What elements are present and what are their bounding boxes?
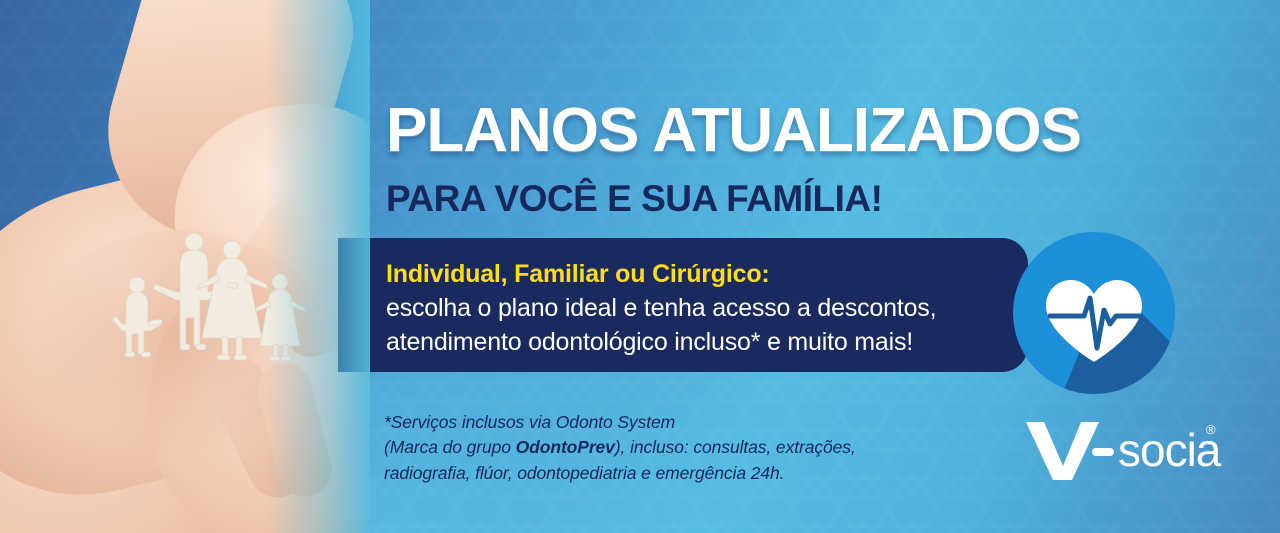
footnote: *Serviços inclusos via Odonto System (Ma… <box>384 410 856 486</box>
footnote-line-2-pre: (Marca do grupo <box>384 437 516 457</box>
page-subtitle: PARA VOCÊ E SUA FAMÍLIA! <box>386 180 882 217</box>
hands-holding-paper-family-photo <box>0 0 370 533</box>
callout-line-1: escolha o plano ideal e tenha acesso a d… <box>386 294 936 323</box>
heart-pulse-icon <box>1013 232 1175 394</box>
registered-trademark-symbol: ® <box>1206 422 1216 437</box>
footnote-line-3: radiografia, flúor, odontopediatria e em… <box>384 461 856 486</box>
footnote-line-2-post: ), incluso: consultas, extrações, <box>615 437 856 457</box>
paper-family-cutout-icon <box>110 228 310 378</box>
footnote-line-1: *Serviços inclusos via Odonto System <box>384 410 856 435</box>
callout-box: Individual, Familiar ou Cirúrgico: escol… <box>338 238 1028 372</box>
callout-title: Individual, Familiar ou Cirúrgico: <box>386 260 770 289</box>
footnote-brand: OdontoPrev <box>516 437 615 457</box>
v-social-logo: social ® <box>1022 414 1222 482</box>
footnote-line-2: (Marca do grupo OdontoPrev), incluso: co… <box>384 435 856 460</box>
promo-banner: PLANOS ATUALIZADOS PARA VOCÊ E SUA FAMÍL… <box>0 0 1280 533</box>
page-title: PLANOS ATUALIZADOS <box>386 100 1081 162</box>
callout-line-2: atendimento odontológico incluso* e muit… <box>386 328 913 357</box>
